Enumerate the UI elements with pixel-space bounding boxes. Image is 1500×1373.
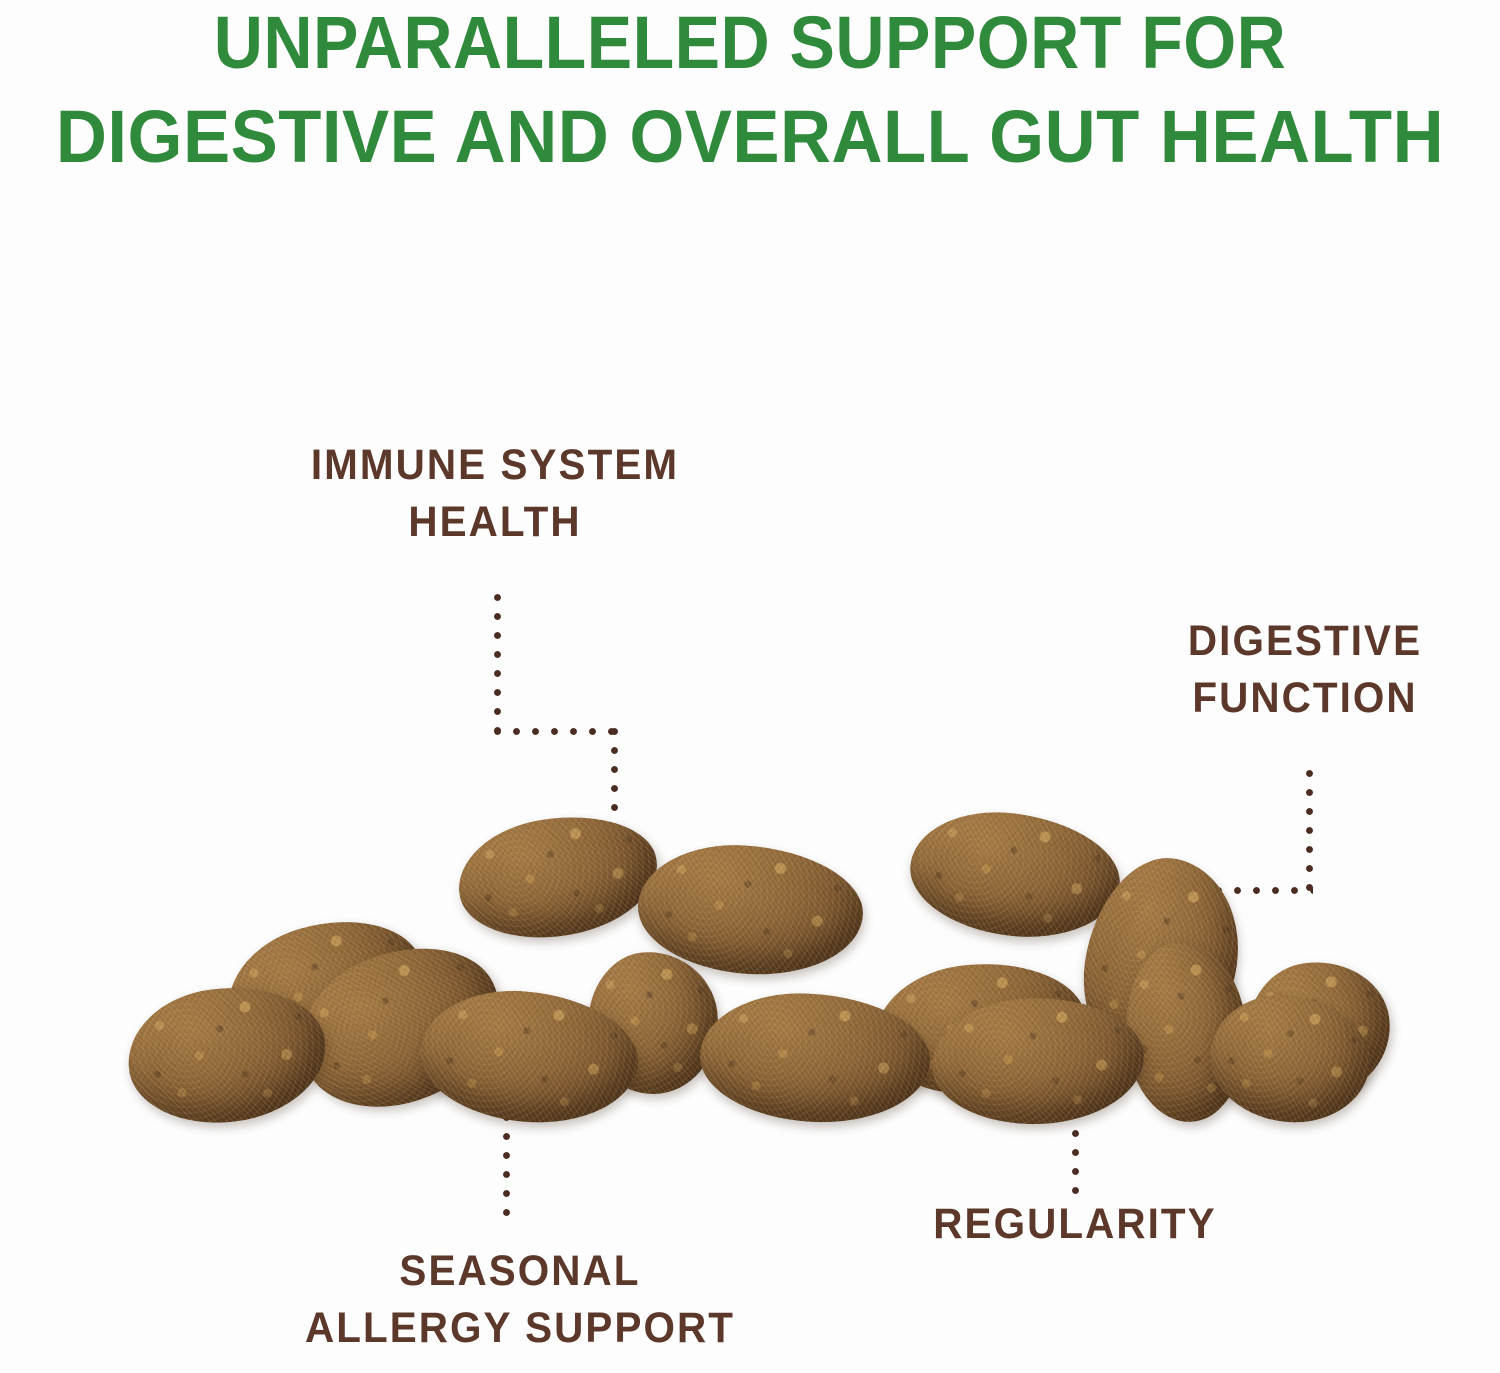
connector-digestive-vertical [1306,770,1313,894]
callout-label-immune-system-health: IMMUNE SYSTEM HEALTH [246,437,744,551]
callout-label-seasonal-allergy-support: SEASONAL ALLERGY SUPPORT [229,1243,812,1357]
callout-label-digestive-function: DIGESTIVE FUNCTION [1122,613,1489,727]
headline-line-2: DIGESTIVE AND OVERALL GUT HEALTH [34,100,1467,174]
kibble-piece [450,803,666,951]
kibble-pile-image [140,812,1365,1102]
callout-label-regularity: REGULARITY [854,1196,1296,1253]
connector-immune-vertical-upper [494,594,501,736]
connector-immune-horizontal [494,728,618,735]
infographic-canvas: UNPARALLELED SUPPORT FOR DIGESTIVE AND O… [0,0,1500,1373]
headline-line-1: UNPARALLELED SUPPORT FOR [60,6,1440,80]
connector-digestive-horizontal [1215,887,1313,894]
connector-immune-vertical-lower [611,728,618,832]
